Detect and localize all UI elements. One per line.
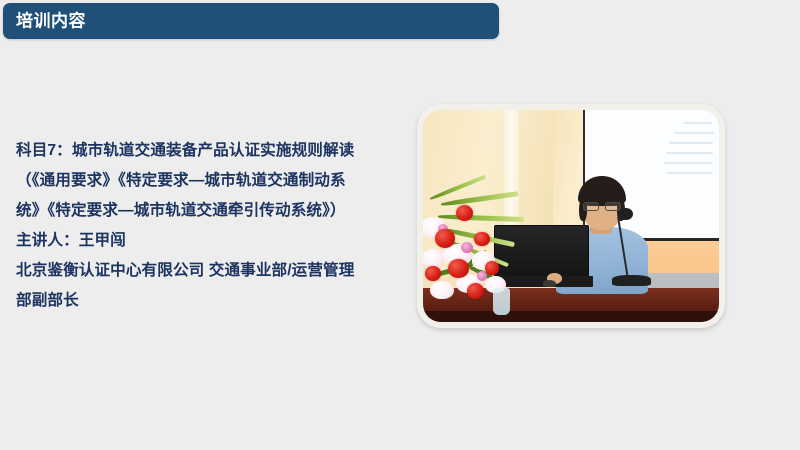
red-rose <box>435 229 455 247</box>
pink-orchid <box>461 242 473 253</box>
projection-screen-text-lines <box>663 122 717 184</box>
red-rose <box>485 261 499 275</box>
content-line-affiliation: 部副部长 <box>16 286 408 316</box>
microphone-base <box>612 275 650 286</box>
content-text-block: 科目7：城市轨道交通装备产品认证实施规则解读 （《通用要求》《特定要求—城市轨道… <box>16 136 408 316</box>
red-rose <box>467 283 484 299</box>
red-rose <box>425 266 441 281</box>
flower-arrangement <box>423 195 547 318</box>
flower-vase <box>493 288 510 315</box>
content-line-affiliation: 北京鉴衡认证中心有限公司 交通事业部/运营管理 <box>16 256 408 286</box>
content-line: （《通用要求》《特定要求—城市轨道交通制动系 <box>16 166 408 196</box>
content-line: 科目7：城市轨道交通装备产品认证实施规则解读 <box>16 136 408 166</box>
red-rose <box>474 232 490 247</box>
white-orchid <box>430 281 453 299</box>
red-rose <box>456 205 473 221</box>
slide-header-bar: 培训内容 <box>3 3 499 39</box>
white-orchid <box>423 249 444 267</box>
content-line-speaker: 主讲人：王甲闯 <box>16 226 408 256</box>
content-line: 统》《特定要求—城市轨道交通牵引传动系统》） <box>16 196 408 226</box>
page-title: 培训内容 <box>16 13 86 30</box>
presentation-photo <box>423 110 719 322</box>
slide-canvas: 培训内容 科目7：城市轨道交通装备产品认证实施规则解读 （《通用要求》《特定要求… <box>0 0 800 450</box>
palm-frond <box>438 214 524 222</box>
photo-frame <box>417 104 725 328</box>
glasses-icon <box>583 202 622 210</box>
